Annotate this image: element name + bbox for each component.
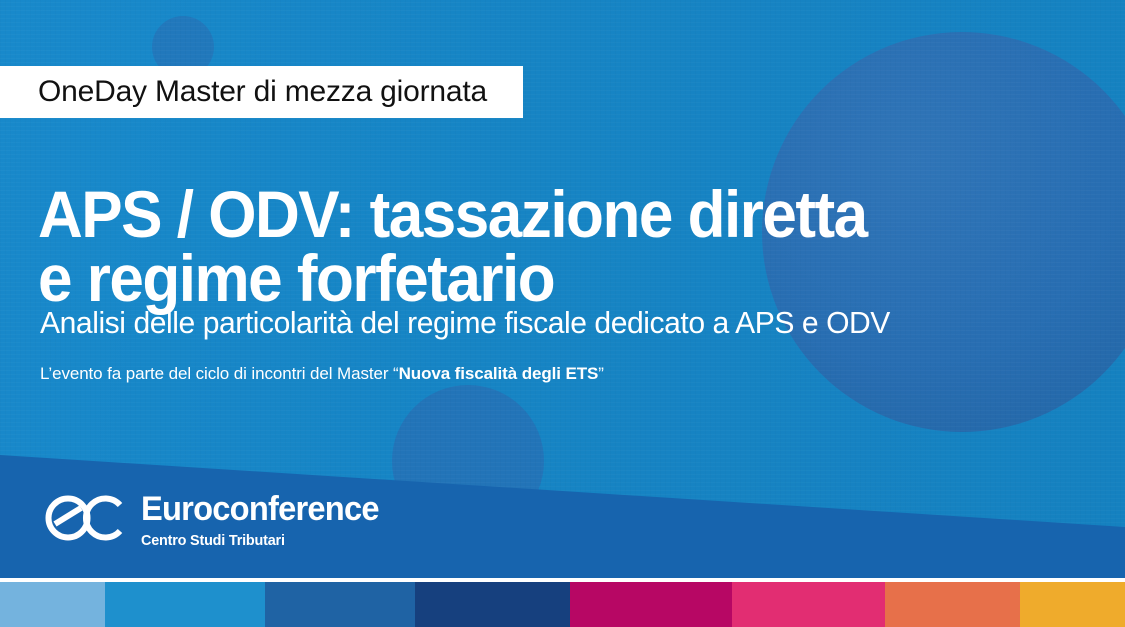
ec-monogram-icon	[42, 494, 128, 547]
color-swatch-amber	[1020, 582, 1125, 627]
event-promo-banner: OneDay Master di mezza giornata APS / OD…	[0, 0, 1125, 627]
series-tagline-emphasis: Nuova fiscalità degli ETS	[399, 364, 599, 383]
event-format-label: OneDay Master di mezza giornata	[38, 77, 487, 107]
series-tagline-prefix: L’evento fa parte del ciclo di incontri …	[40, 364, 399, 383]
color-swatch-medium-blue	[265, 582, 415, 627]
series-tagline-suffix: ”	[598, 364, 604, 383]
brand-logo-wordmark: Euroconference Centro Studi Tributari	[141, 492, 389, 548]
color-swatch-navy-blue	[415, 582, 570, 627]
banner-content: OneDay Master di mezza giornata APS / OD…	[0, 0, 1125, 627]
color-swatch-pink	[732, 582, 885, 627]
color-swatch-orange	[885, 582, 1020, 627]
brand-tagline: Centro Studi Tributari	[141, 533, 379, 548]
brand-name: Euroconference	[141, 492, 379, 526]
color-swatch-bright-blue	[105, 582, 265, 627]
color-swatch-light-blue	[0, 582, 105, 627]
brand-color-strip	[0, 582, 1125, 627]
brand-logo: Euroconference Centro Studi Tributari	[42, 492, 389, 548]
event-format-badge: OneDay Master di mezza giornata	[0, 66, 523, 118]
page-title: APS / ODV: tassazione diretta e regime f…	[38, 182, 1025, 310]
color-swatch-magenta	[570, 582, 732, 627]
page-title-line-1: APS / ODV: tassazione diretta	[38, 182, 1025, 246]
page-title-line-2: e regime forfetario	[38, 246, 1025, 310]
series-tagline: L’evento fa parte del ciclo di incontri …	[40, 364, 604, 384]
page-subtitle: Analisi delle particolarità del regime f…	[40, 306, 890, 340]
